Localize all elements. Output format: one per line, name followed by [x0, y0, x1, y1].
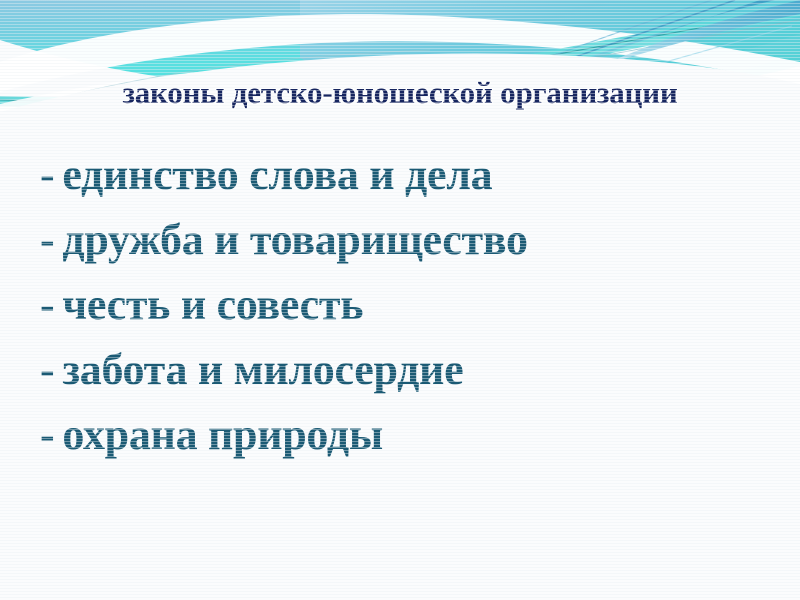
list-item-text: охрана природы [62, 410, 383, 459]
bullet-marker: - [40, 272, 54, 337]
wave-stripe-2 [520, 0, 712, 68]
bullet-marker: - [40, 142, 54, 207]
list-item-text: единство слова и дела [62, 150, 492, 199]
bullet-marker: - [40, 337, 54, 402]
list-item: -дружба и товарищество [40, 207, 770, 272]
list-item: -единство слова и дела [40, 142, 770, 207]
wave-ribbon-blue-1 [600, 0, 800, 66]
slide-title: законы детско-юношеской организации [0, 76, 800, 110]
bullet-marker: - [40, 207, 54, 272]
wave-ribbon-blue-2 [540, 0, 775, 76]
presentation-slide: законы детско-юношеской организации -еди… [0, 0, 800, 600]
wave-stripe-1 [534, 0, 735, 72]
list-item: -забота и милосердие [40, 337, 770, 402]
list-item-text: забота и милосердие [62, 345, 463, 394]
bullet-marker: - [40, 402, 54, 467]
slide-bullet-list: -единство слова и дела -дружба и товарищ… [40, 142, 770, 467]
list-item: -охрана природы [40, 402, 770, 467]
list-item-text: честь и совесть [62, 280, 363, 329]
list-item: -честь и совесть [40, 272, 770, 337]
list-item-text: дружба и товарищество [62, 215, 527, 264]
